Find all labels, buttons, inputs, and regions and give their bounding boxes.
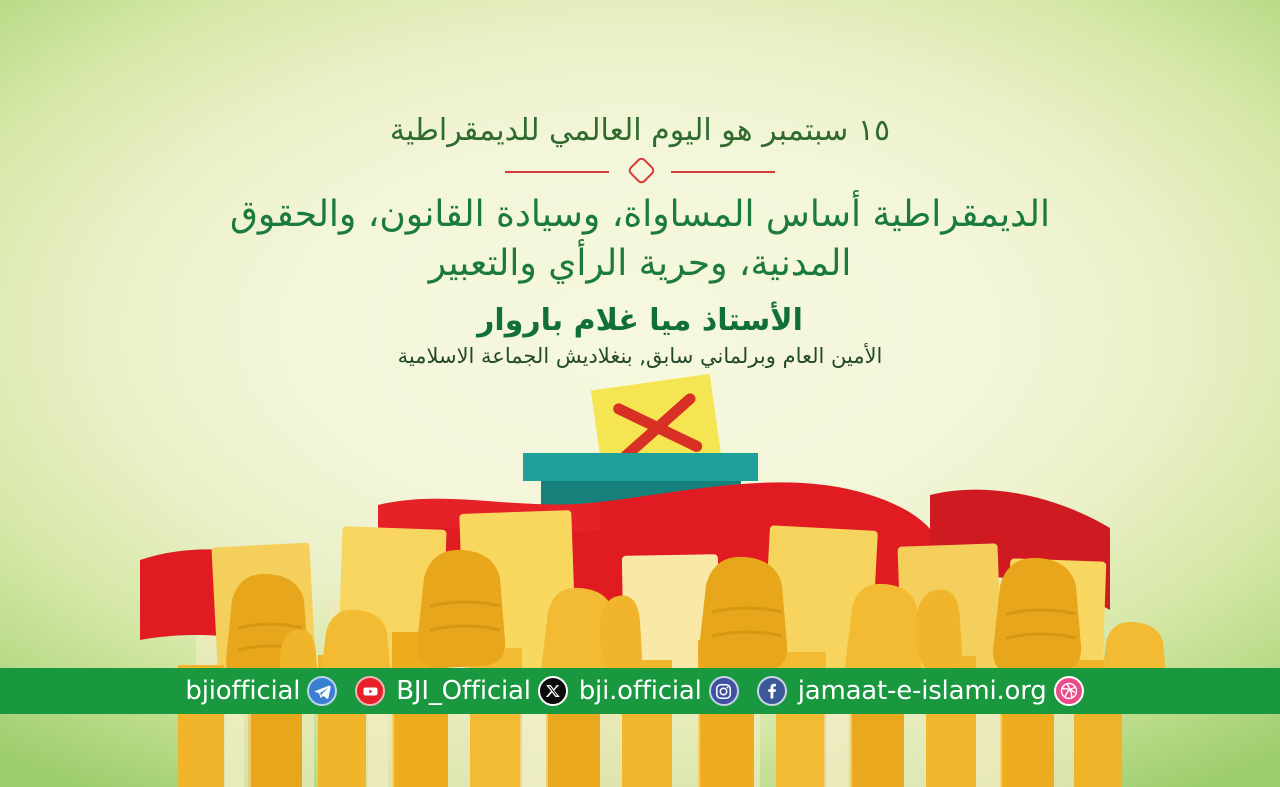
poster-canvas: ١٥ سبتمبر هو اليوم العالمي للديمقراطية ا… [0,0,1280,787]
x-handle: BJI_Official [396,678,530,704]
instagram-handle: bji.official [579,678,702,704]
instagram-icon[interactable] [709,676,739,706]
footer-item-website[interactable]: jamaat-e-islami.org [798,676,1095,706]
divider-line-right [671,171,775,173]
telegram-handle: bjiofficial [185,678,300,704]
page-title: الديمقراطية أساس المساواة، وسيادة القانو… [0,190,1280,289]
x-twitter-icon[interactable] [538,676,568,706]
website-handle: jamaat-e-islami.org [798,678,1047,704]
speaker-name: الأستاذ ميا غلام باروار [0,303,1280,339]
youtube-icon[interactable] [355,676,385,706]
footer-item-instagram[interactable]: bji.official [579,676,750,706]
lower-arms-below-bar [178,714,1122,787]
diamond-ornament-icon [627,155,657,185]
footer-item-facebook[interactable] [750,676,798,706]
divider-ornament [505,160,775,182]
poster-text-block: ١٥ سبتمبر هو اليوم العالمي للديمقراطية ا… [0,0,1280,369]
social-footer-bar: jamaat-e-islami.org bji.official [0,668,1280,714]
speaker-role: الأمين العام وبرلماني سابق, بنغلاديش الج… [0,343,1280,369]
dribbble-icon[interactable] [1054,676,1084,706]
divider-line-left [505,171,609,173]
footer-item-youtube[interactable] [348,676,396,706]
kicker-line: ١٥ سبتمبر هو اليوم العالمي للديمقراطية [0,0,1280,150]
facebook-icon[interactable] [757,676,787,706]
telegram-icon[interactable] [307,676,337,706]
footer-item-x[interactable]: BJI_Official [396,676,578,706]
footer-item-telegram[interactable]: bjiofficial [185,676,348,706]
